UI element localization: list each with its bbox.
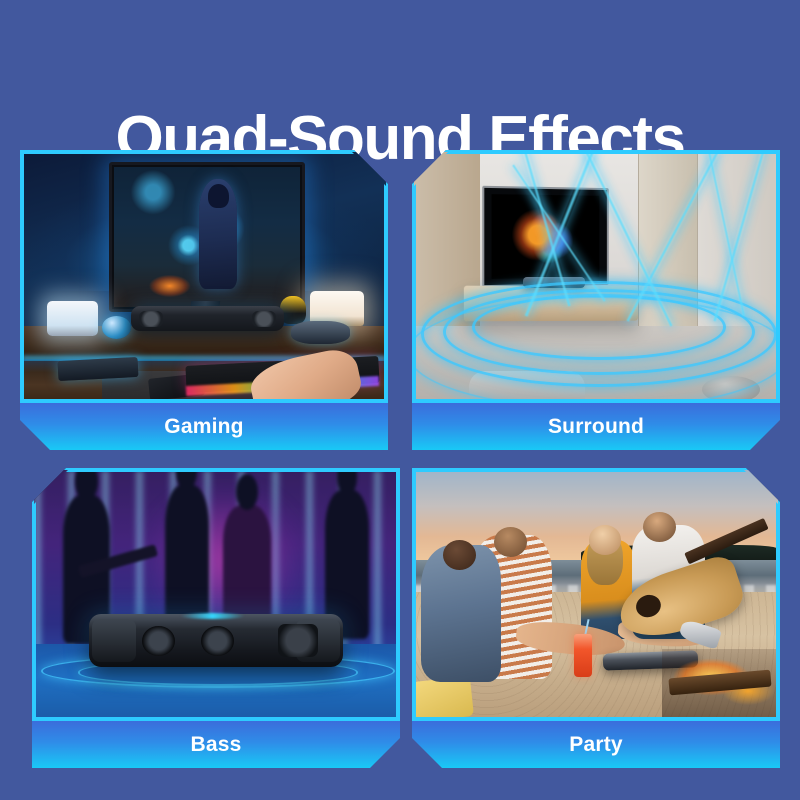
person-2-head [494,527,527,557]
speaker-tweeter [278,624,318,656]
drink-bottle [574,634,592,676]
caption-label-gaming: Gaming [164,415,243,439]
handheld-console [58,357,139,381]
bass-scene [34,470,398,719]
feature-panel-surround[interactable]: Surround [412,150,780,450]
speaker-passive-radiator-left [92,619,136,661]
game-character [199,179,237,289]
caption-label-bass: Bass [190,733,241,757]
sound-ring-3 [472,294,726,360]
gaming-photo [20,150,388,403]
caption-label-surround: Surround [548,415,644,439]
decor-orb [102,316,131,338]
caption-band-party: Party [412,721,780,768]
caption-band-bass: Bass [32,721,400,768]
person-1-head [443,540,476,570]
surround-photo [412,150,780,403]
caption-band-gaming: Gaming [20,403,388,450]
party-photo [412,468,780,721]
feature-grid: Gaming [20,150,780,775]
beach-towel [412,676,474,721]
surround-scene [414,152,778,401]
person-3-head [589,525,622,555]
gaming-monitor [109,162,304,312]
desk-figurine [280,296,305,323]
feature-panel-bass[interactable]: Bass [32,468,400,768]
bass-photo [32,468,400,721]
rgb-lamp-left [47,301,98,336]
feature-panel-gaming[interactable]: Gaming [20,150,388,450]
feature-panel-party[interactable]: Party [412,468,780,768]
caption-band-surround: Surround [412,403,780,450]
marketing-banner: Quad-Sound Effects [0,0,800,800]
gaming-scene [22,152,386,401]
soundbar-device [131,306,284,331]
party-scene [414,470,778,719]
game-controller [291,321,349,343]
caption-label-party: Party [569,733,623,757]
